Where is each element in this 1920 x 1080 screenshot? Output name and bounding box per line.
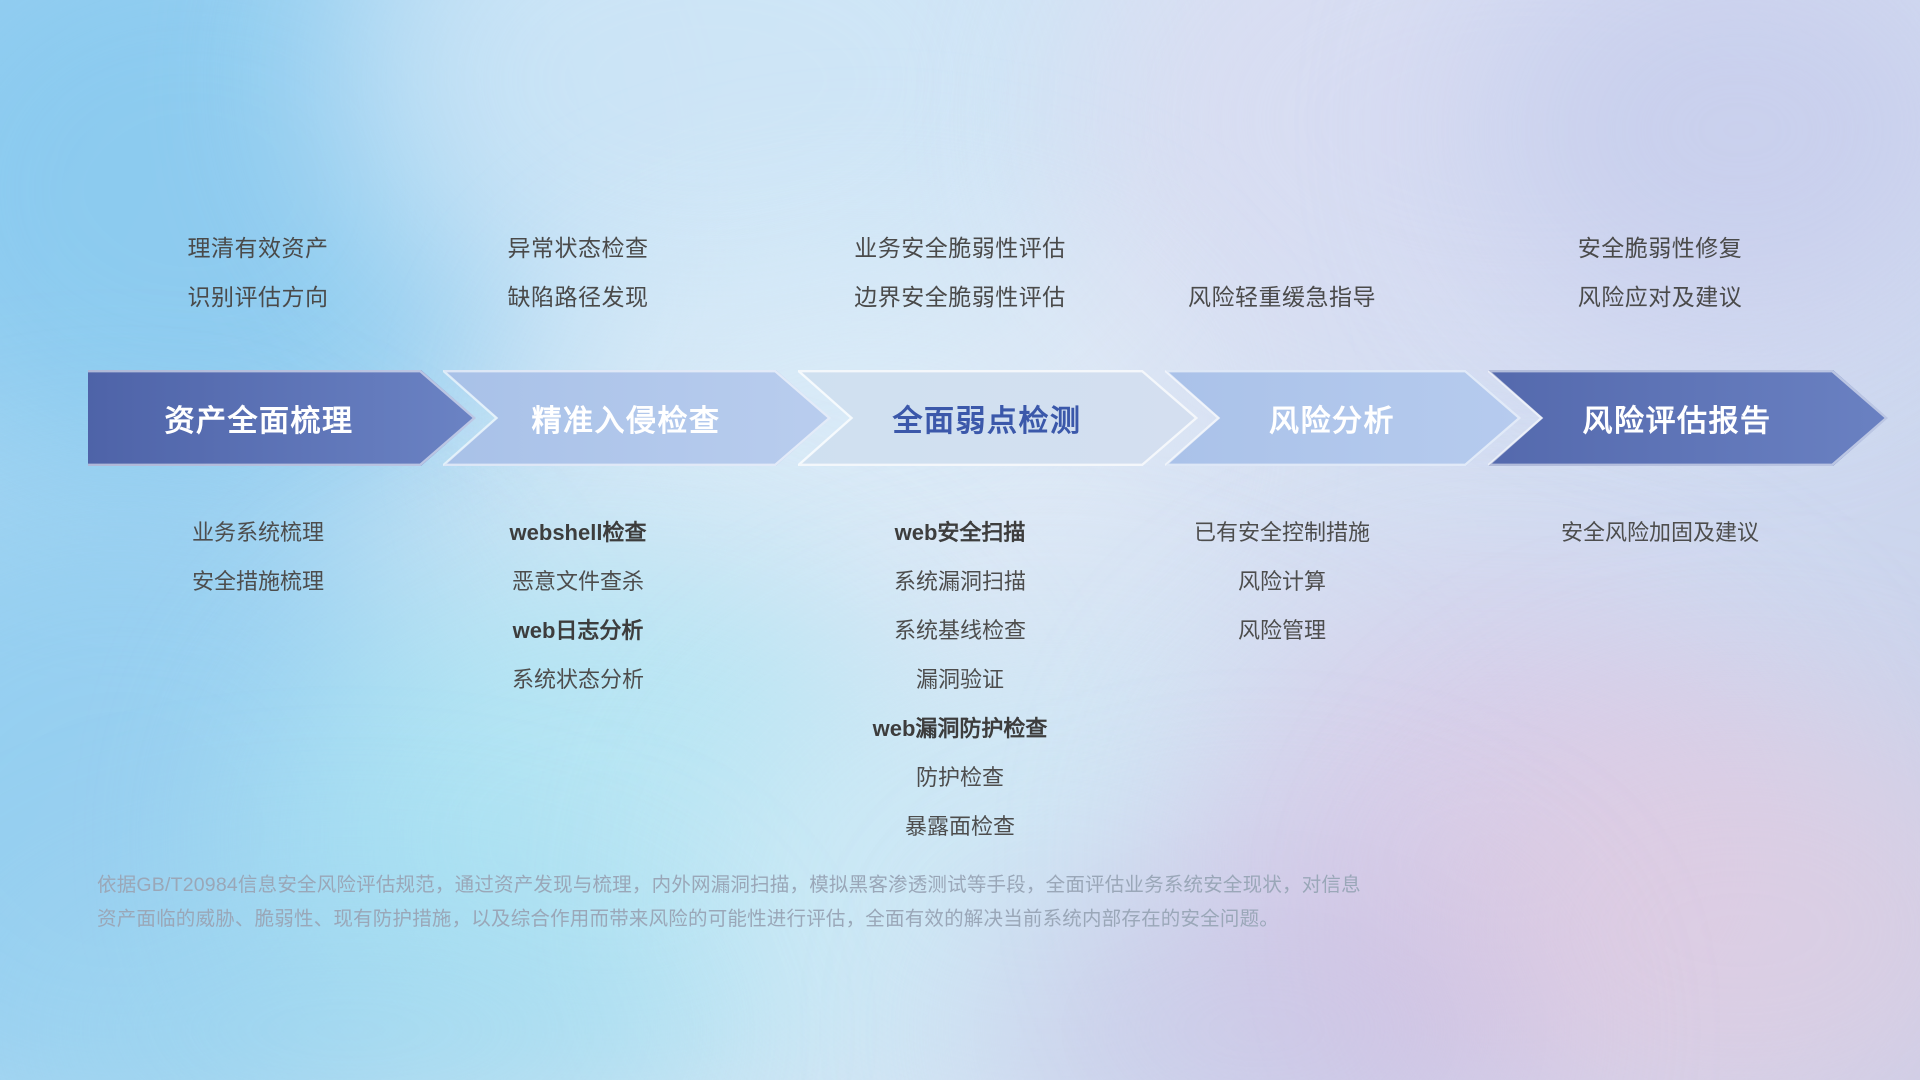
bottom-item: 暴露面检查: [770, 802, 1150, 851]
footer-description: 依据GB/T20984信息安全风险评估规范，通过资产发现与梳理，内外网漏洞扫描，…: [97, 868, 1597, 936]
bottom-item: web日志分析: [408, 606, 748, 655]
stage-bottom-items-4: 已有安全控制措施 风险计算 风险管理: [1112, 508, 1452, 655]
process-arrow-band: 资产全面梳理 精准入侵检查: [88, 370, 1848, 466]
stage-bottom-items-3: web安全扫描 系统漏洞扫描 系统基线检查 漏洞验证 web漏洞防护检查 防护检…: [770, 508, 1150, 851]
stage-arrow-3[interactable]: 全面弱点检测: [798, 370, 1198, 466]
stage-arrow-label: 风险分析: [1269, 396, 1395, 440]
bottom-item: web漏洞防护检查: [770, 704, 1150, 753]
stage-top-items-1: 理清有效资产 识别评估方向: [88, 224, 428, 322]
top-item: 风险轻重缓急指导: [1112, 273, 1452, 322]
top-item: 理清有效资产: [88, 224, 428, 273]
bottom-item: 系统基线检查: [770, 606, 1150, 655]
bottom-item: 安全风险加固及建议: [1490, 508, 1830, 557]
footer-line: 资产面临的威胁、脆弱性、现有防护措施，以及综合作用而带来风险的可能性进行评估，全…: [97, 902, 1597, 936]
bottom-item: 业务系统梳理: [88, 508, 428, 557]
stage-top-items-3: 业务安全脆弱性评估 边界安全脆弱性评估: [770, 224, 1150, 322]
stage-bottom-items-5: 安全风险加固及建议: [1490, 508, 1830, 557]
bottom-item: 恶意文件查杀: [408, 557, 748, 606]
stage-top-items-2: 异常状态检查 缺陷路径发现: [408, 224, 748, 322]
stage-arrow-4[interactable]: 风险分析: [1165, 370, 1521, 466]
stage-arrow-1[interactable]: 资产全面梳理: [88, 370, 476, 466]
top-item: 业务安全脆弱性评估: [770, 224, 1150, 273]
stage-bottom-items-1: 业务系统梳理 安全措施梳理: [88, 508, 428, 606]
top-item: 风险应对及建议: [1490, 273, 1830, 322]
stage-arrow-label: 全面弱点检测: [893, 396, 1082, 440]
top-item-spacer: [1112, 224, 1452, 273]
top-item: 边界安全脆弱性评估: [770, 273, 1150, 322]
bottom-item: 已有安全控制措施: [1112, 508, 1452, 557]
bottom-item: web安全扫描: [770, 508, 1150, 557]
stage-arrow-5[interactable]: 风险评估报告: [1488, 370, 1888, 466]
stage-arrow-label: 资产全面梳理: [165, 396, 354, 440]
top-item: 识别评估方向: [88, 273, 428, 322]
top-item: 异常状态检查: [408, 224, 748, 273]
stage-arrow-label: 精准入侵检查: [532, 396, 721, 440]
top-item: 安全脆弱性修复: [1490, 224, 1830, 273]
stage-arrow-2[interactable]: 精准入侵检查: [443, 370, 831, 466]
bottom-item: webshell检查: [408, 508, 748, 557]
diagram-root: 理清有效资产 识别评估方向 异常状态检查 缺陷路径发现 业务安全脆弱性评估 边界…: [0, 0, 1920, 1080]
stage-arrow-label: 风险评估报告: [1583, 396, 1772, 440]
bottom-item: 安全措施梳理: [88, 557, 428, 606]
footer-line: 依据GB/T20984信息安全风险评估规范，通过资产发现与梳理，内外网漏洞扫描，…: [97, 868, 1597, 902]
bottom-item: 系统状态分析: [408, 655, 748, 704]
bottom-item: 系统漏洞扫描: [770, 557, 1150, 606]
stage-top-items-5: 安全脆弱性修复 风险应对及建议: [1490, 224, 1830, 322]
stage-bottom-items-2: webshell检查 恶意文件查杀 web日志分析 系统状态分析: [408, 508, 748, 704]
bottom-item: 漏洞验证: [770, 655, 1150, 704]
bottom-item: 风险计算: [1112, 557, 1452, 606]
bottom-item: 风险管理: [1112, 606, 1452, 655]
bottom-item: 防护检查: [770, 753, 1150, 802]
stage-top-items-4: 风险轻重缓急指导: [1112, 224, 1452, 322]
top-item: 缺陷路径发现: [408, 273, 748, 322]
